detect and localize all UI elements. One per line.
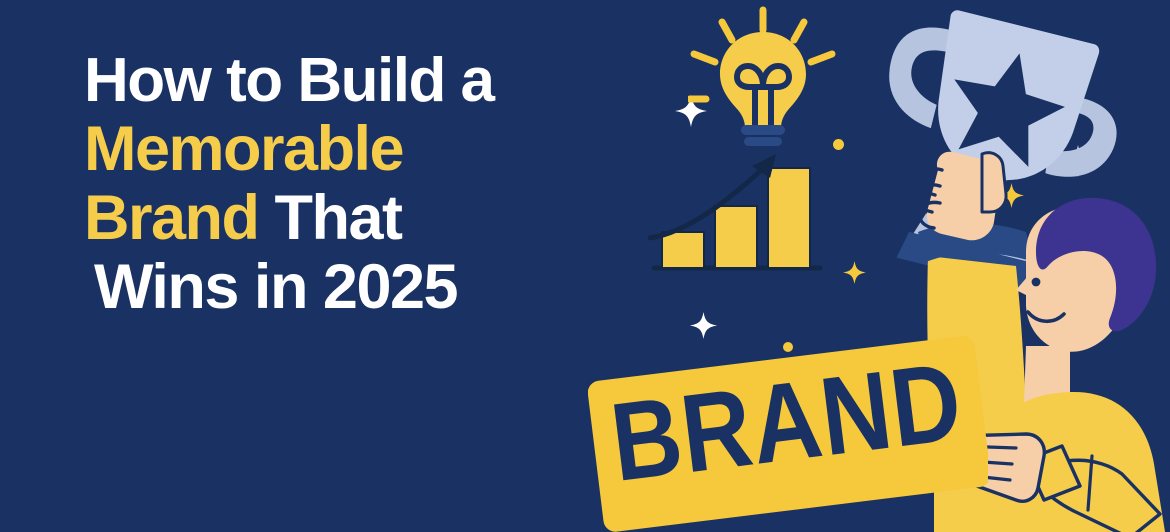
eye-icon bbox=[1032, 278, 1041, 287]
headline-line-3: Brand That bbox=[84, 184, 664, 253]
headline-line-4: Wins in 2025 bbox=[94, 253, 664, 322]
headline-block: How to Build a Memorable Brand That Wins… bbox=[84, 46, 664, 322]
headline-line-2: Memorable bbox=[84, 115, 664, 184]
lightbulb-icon bbox=[688, 4, 838, 154]
blog-banner: How to Build a Memorable Brand That Wins… bbox=[0, 0, 1170, 532]
brand-sign: BRAND bbox=[588, 330, 988, 532]
headline-line-3-that: That bbox=[275, 183, 402, 253]
chart-bar-3 bbox=[768, 168, 810, 268]
headline-line-3-brand: Brand bbox=[84, 183, 275, 253]
chart-bar-2 bbox=[715, 206, 757, 268]
bar-chart-icon bbox=[648, 140, 828, 280]
chart-bar-1 bbox=[662, 232, 704, 268]
headline-line-1: How to Build a bbox=[84, 46, 664, 115]
